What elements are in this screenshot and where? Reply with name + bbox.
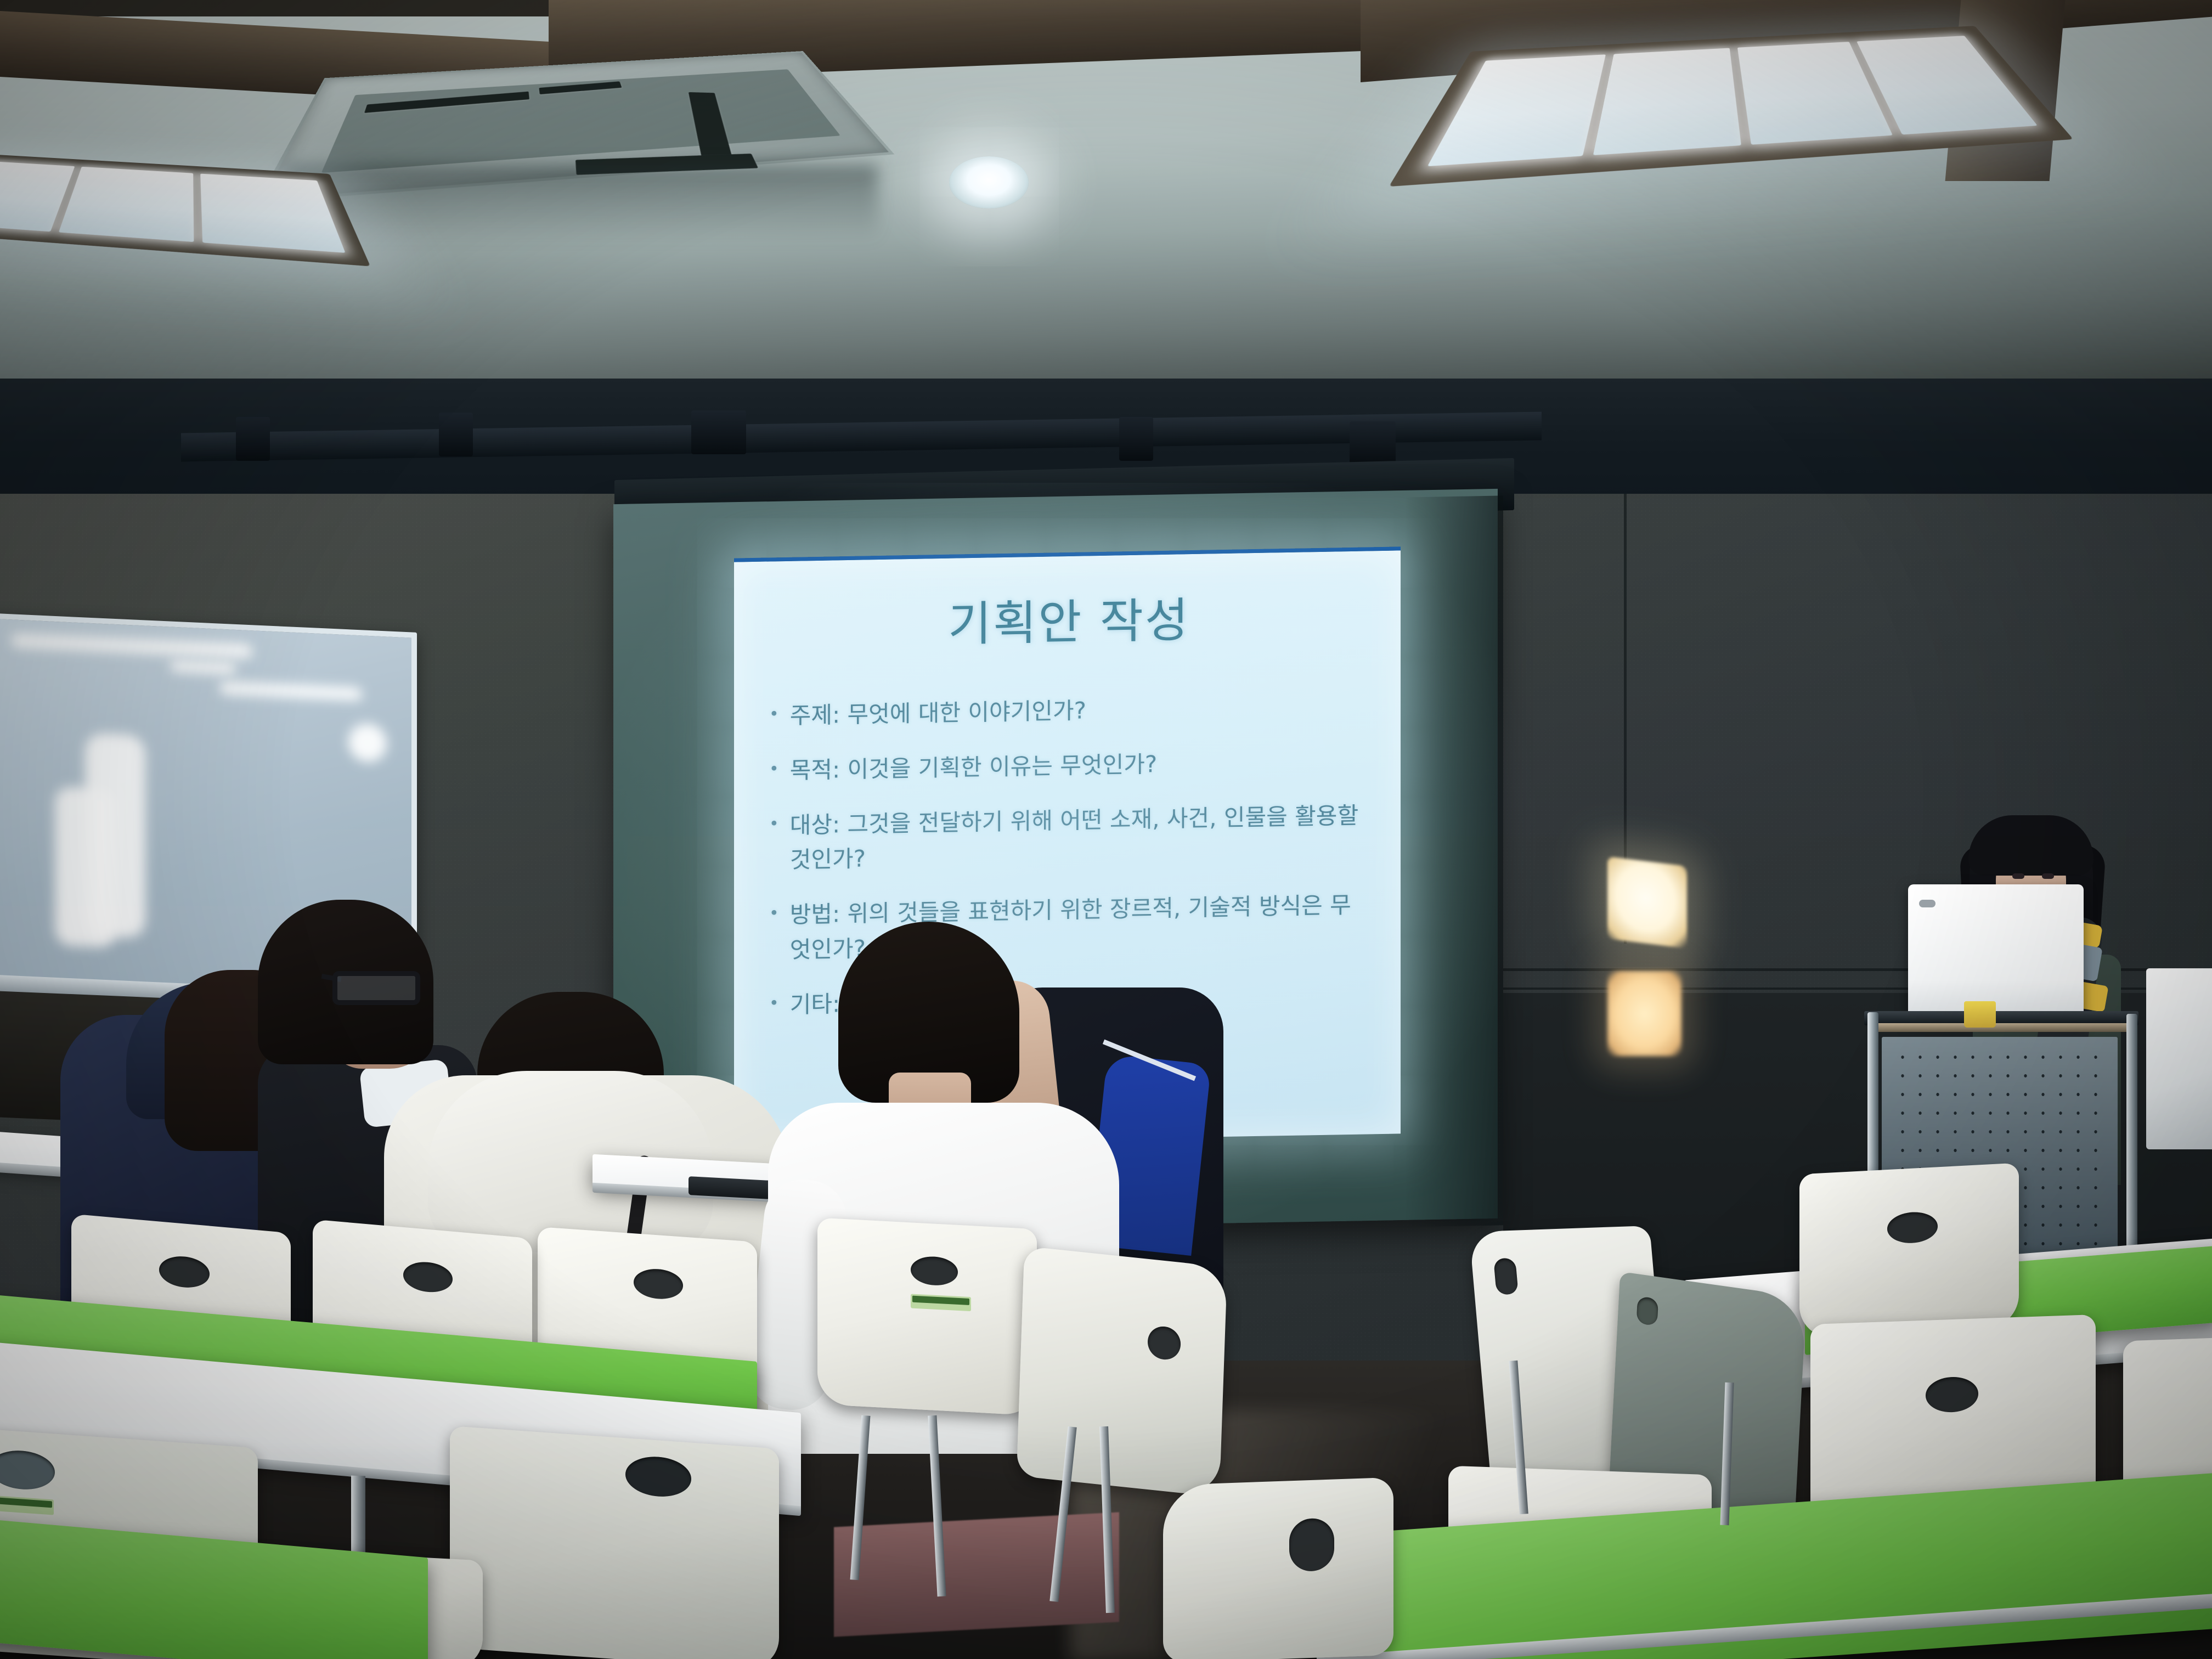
track-light-head-icon (1350, 421, 1396, 465)
chair-hand-hole-icon (1289, 1517, 1334, 1572)
laptop-logo (1919, 900, 1936, 907)
track-light-head-icon (439, 413, 473, 456)
slide-bullet-text: 주제: 무엇에 대한 이야기인가? (790, 688, 1369, 733)
slide-bullet-text: 대상: 그것을 전달하기 위해 어떤 소재, 사건, 인물을 활용할 것인가? (790, 798, 1369, 878)
fluorescent-tube (200, 174, 345, 253)
presenter-eye-left (2012, 873, 2024, 879)
white-panel-right (2146, 968, 2212, 1149)
bullet-marker-icon: • (769, 988, 779, 1023)
chair[interactable] (1017, 1246, 1227, 1497)
slide-bullet-item: • 주제: 무엇에 대한 이야기인가? (769, 688, 1369, 733)
fluorescent-tube (1593, 48, 1741, 155)
presenter-bangs (1968, 815, 2093, 876)
chair-backrest (1799, 1163, 2019, 1339)
bullet-marker-icon: • (769, 898, 779, 968)
whiteboard-glare (11, 633, 252, 658)
slide-bullet-text: 목적: 이것을 기획한 이유는 무엇인가? (790, 743, 1369, 788)
track-light-head-icon (1119, 417, 1153, 461)
yellow-cup (1964, 1001, 1996, 1028)
floor-mat (834, 1512, 1119, 1637)
wall-light-patch-lower (1607, 971, 1681, 1056)
whiteboard-glare (219, 681, 362, 701)
chair[interactable] (450, 1426, 779, 1659)
chair[interactable] (1163, 1477, 1393, 1659)
chair-backrest (450, 1426, 779, 1659)
classroom-photo-scene: 기획안 작성 • 주제: 무엇에 대한 이야기인가? • 목적: 이것을 기획한… (0, 0, 2212, 1659)
ac-shadow (285, 165, 878, 241)
chair[interactable] (817, 1218, 1037, 1416)
slide-bullet-item: • 대상: 그것을 전달하기 위해 어떤 소재, 사건, 인물을 활용할 것인가… (769, 798, 1369, 878)
chair-backrest (1163, 1477, 1393, 1659)
slide-bullet-item: • 목적: 이것을 기획한 이유는 무엇인가? (769, 743, 1369, 788)
chair-backrest (1017, 1246, 1227, 1497)
slide-title: 기획안 작성 (769, 594, 1369, 651)
bullet-marker-icon: • (769, 753, 779, 788)
screen-edge-shadow (1404, 495, 1503, 1227)
fluorescent-tube (59, 167, 194, 242)
whiteboard-glare (170, 660, 236, 675)
whiteboard-glare (85, 732, 145, 938)
whiteboard-glare (348, 723, 387, 763)
chair-backrest (817, 1218, 1037, 1416)
chair[interactable] (1799, 1163, 2019, 1339)
track-light-head-icon (236, 417, 270, 461)
ceiling-downlight (949, 156, 1029, 208)
track-light-head-icon (691, 410, 746, 454)
wall-light-patch-upper (1607, 856, 1687, 949)
bullet-marker-icon: • (769, 808, 779, 878)
presenter-eye-right (2042, 873, 2054, 879)
lectern-shelf (1878, 1023, 2136, 1032)
glasses-icon (332, 971, 420, 1005)
bullet-marker-icon: • (769, 698, 779, 733)
